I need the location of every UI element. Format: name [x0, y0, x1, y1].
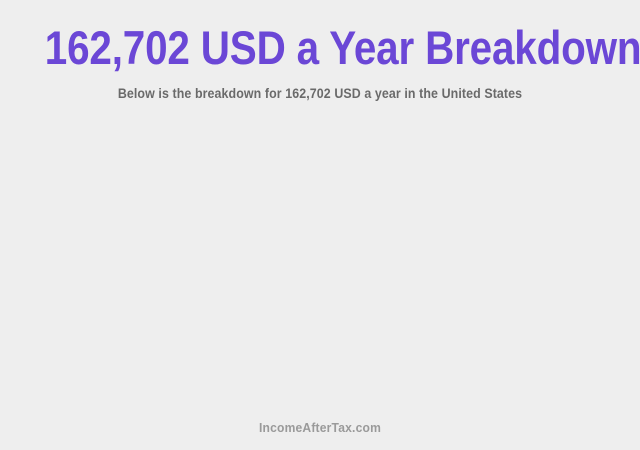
page-subtitle: Below is the breakdown for 162,702 USD a…: [26, 86, 615, 102]
chart-area: Chart region is blank in the screenshot …: [0, 120, 640, 410]
page-footer: IncomeAfterTax.com: [0, 420, 640, 436]
income-breakdown-page: 162,702 USD a Year Breakdown Below is th…: [0, 0, 640, 450]
page-title: 162,702 USD a Year Breakdown: [45, 22, 595, 74]
site-watermark: IncomeAfterTax.com: [22, 420, 617, 436]
